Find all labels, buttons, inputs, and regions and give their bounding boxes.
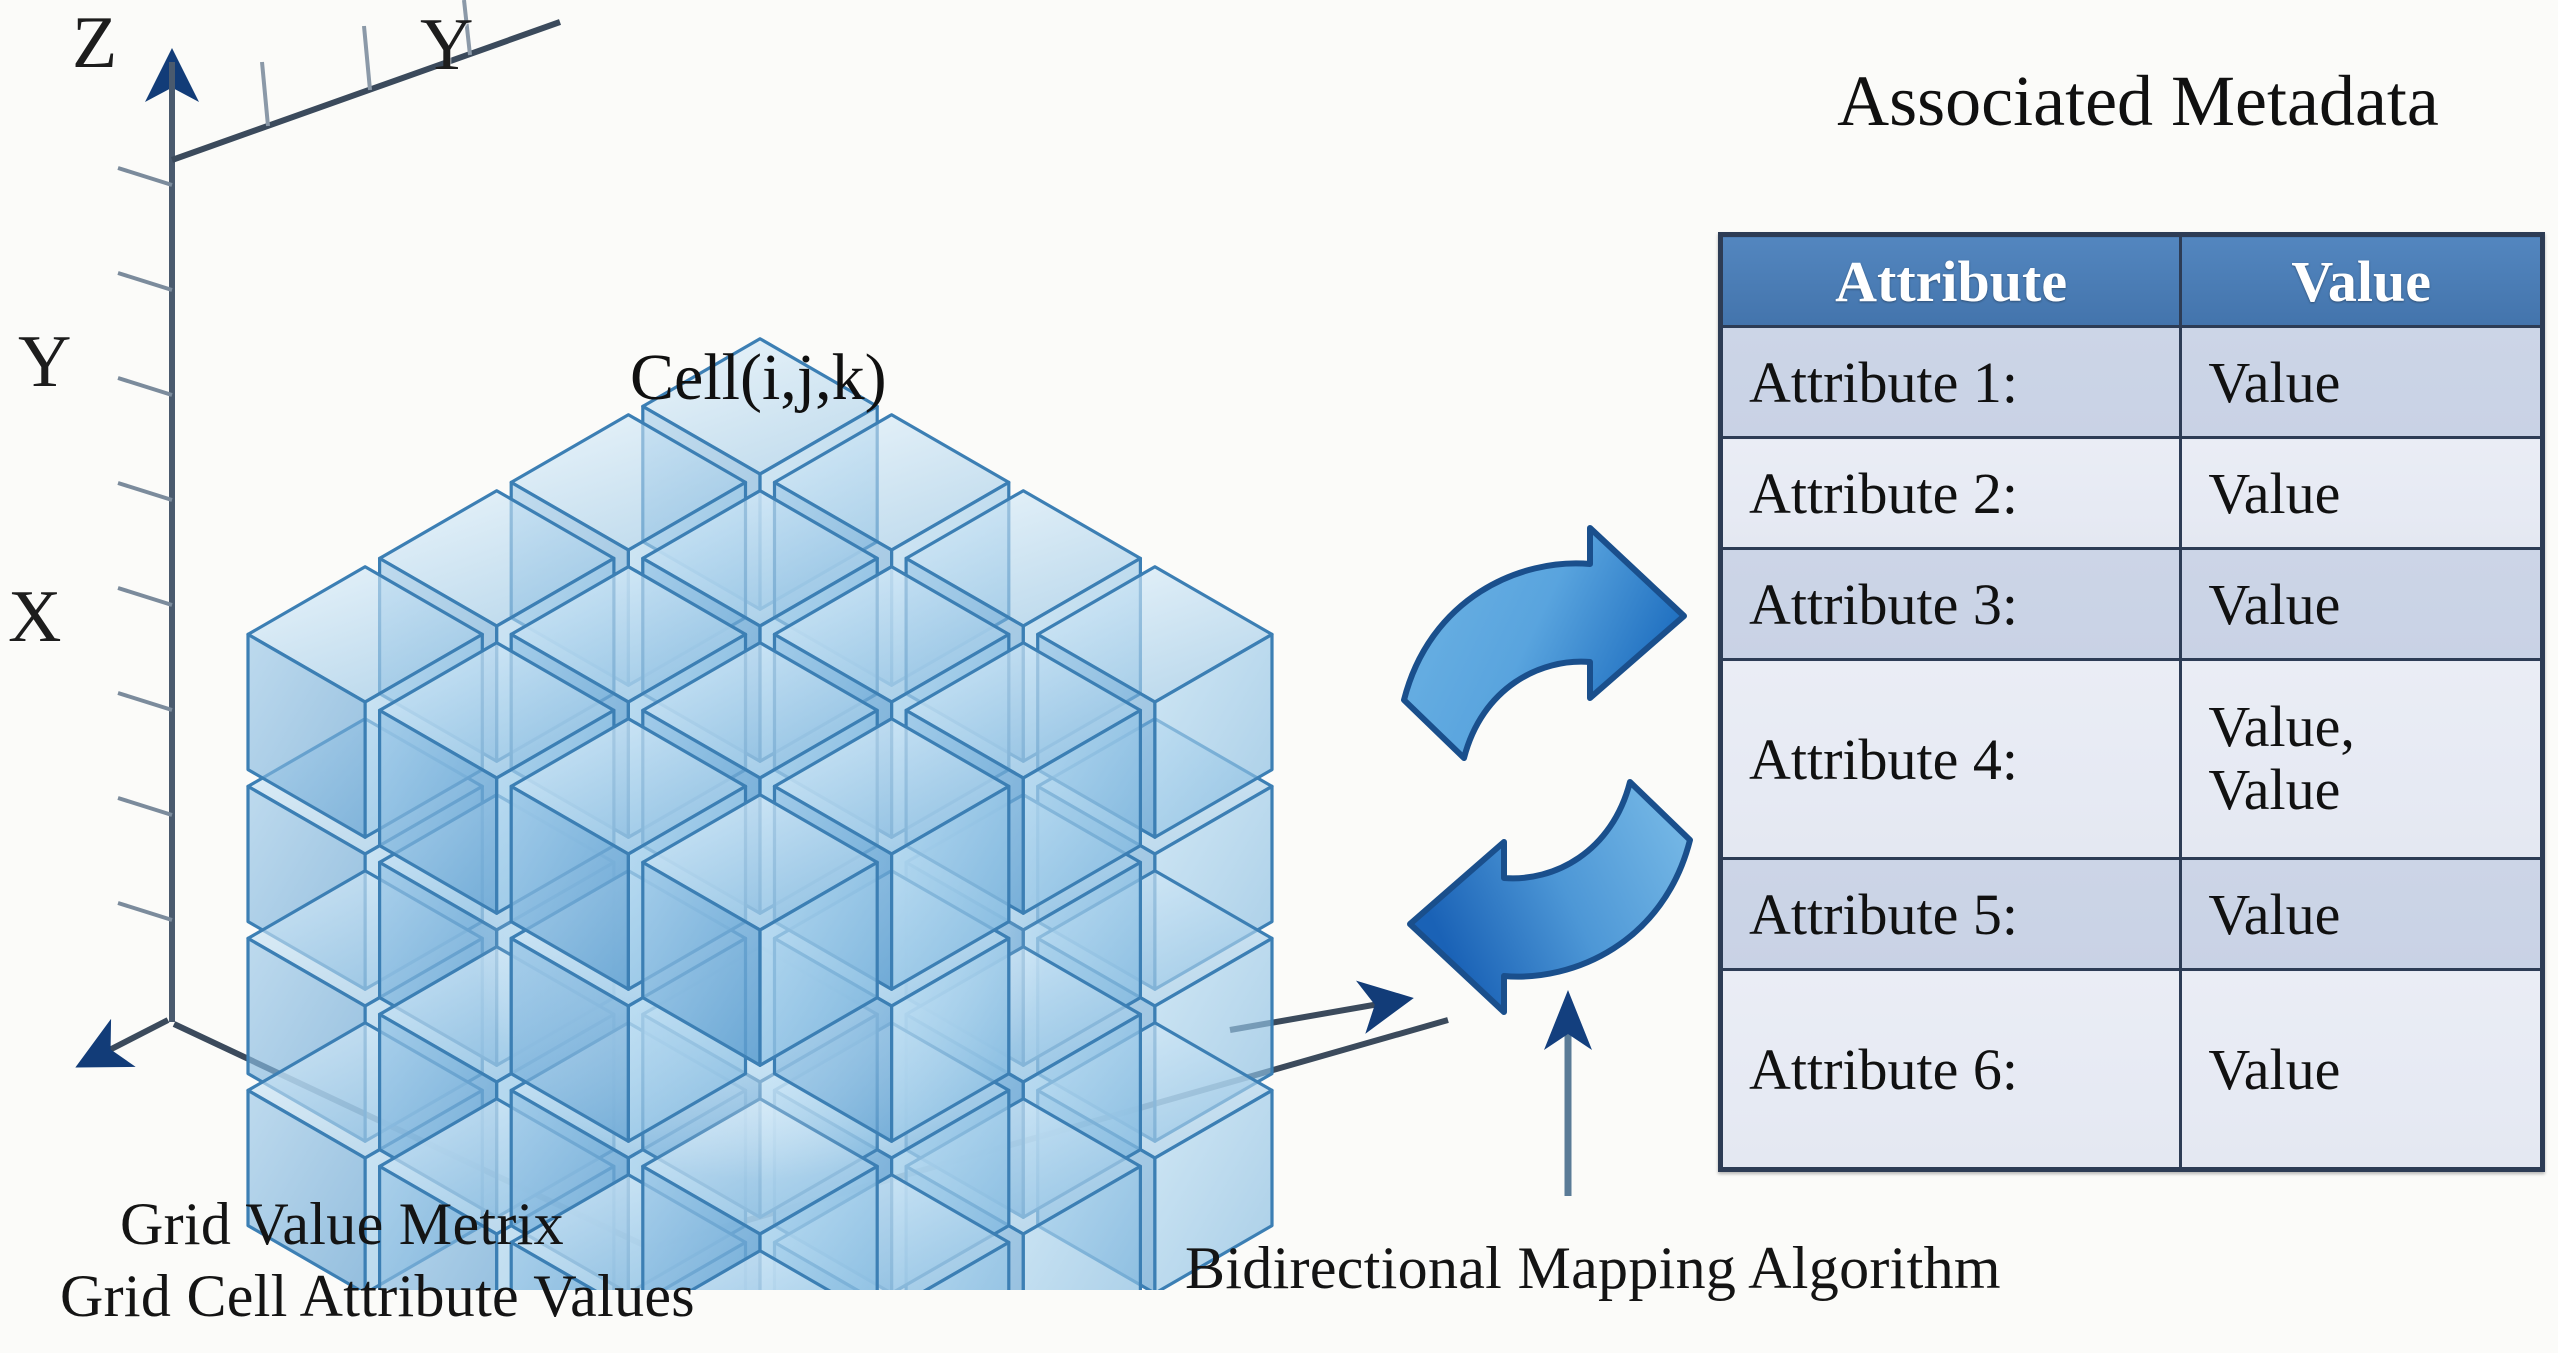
axis-label-y-left: Y: [18, 325, 71, 399]
metadata-value-cell: Value: [2181, 327, 2543, 438]
metadata-row: Attribute 6:Value: [1721, 970, 2543, 1170]
axis-label-z: Z: [72, 6, 117, 80]
metadata-row: Attribute 4:Value,Value: [1721, 660, 2543, 859]
grid-cube-illustration: [0, 0, 1500, 1290]
metadata-attribute-cell: Attribute 6:: [1721, 970, 2181, 1170]
metadata-attribute-cell: Attribute 3:: [1721, 549, 2181, 660]
column-header-attribute: Attribute: [1721, 235, 2181, 327]
metadata-header-row: Attribute Value: [1721, 235, 2543, 327]
metadata-table: Attribute Value Attribute 1:ValueAttribu…: [1718, 232, 2545, 1172]
column-header-value: Value: [2181, 235, 2543, 327]
caption-bidirectional-mapping-algorithm: Bidirectional Mapping Algorithm: [1185, 1234, 2001, 1303]
cell-index-label: Cell(i,j,k): [630, 340, 887, 416]
metadata-value-cell: Value,Value: [2181, 660, 2543, 859]
metadata-value-cell: Value: [2181, 859, 2543, 970]
metadata-row: Attribute 5:Value: [1721, 859, 2543, 970]
caption-grid-cell-attribute-values: Grid Cell Attribute Values: [60, 1262, 695, 1331]
metadata-attribute-cell: Attribute 5:: [1721, 859, 2181, 970]
metadata-attribute-cell: Attribute 2:: [1721, 438, 2181, 549]
caption-grid-value-metrix: Grid Value Metrix: [120, 1190, 564, 1259]
axis-label-y-top: Y: [420, 8, 473, 82]
metadata-row: Attribute 2:Value: [1721, 438, 2543, 549]
metadata-attribute-cell: Attribute 4:: [1721, 660, 2181, 859]
axis-label-x: X: [8, 580, 61, 654]
metadata-value-cell: Value: [2181, 438, 2543, 549]
diagram-canvas: Z Y Y X Y Cell(i,j,k) Grid Value Metrix …: [0, 0, 2558, 1353]
metadata-value-cell: Value: [2181, 970, 2543, 1170]
metadata-row: Attribute 3:Value: [1721, 549, 2543, 660]
metadata-title: Associated Metadata: [1718, 60, 2558, 143]
bidirectional-sync-arrows-icon: [1390, 520, 1730, 1200]
metadata-value-cell: Value: [2181, 549, 2543, 660]
metadata-attribute-cell: Attribute 1:: [1721, 327, 2181, 438]
metadata-row: Attribute 1:Value: [1721, 327, 2543, 438]
